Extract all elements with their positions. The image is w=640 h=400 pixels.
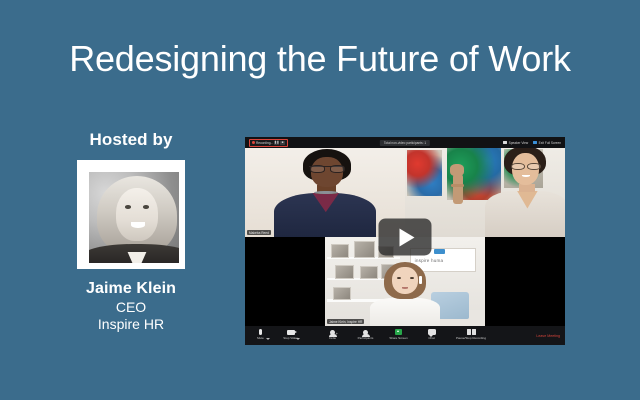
- tile1-name-label: Makeba Reed: [247, 230, 271, 235]
- tile3-picture-frame: [360, 266, 378, 279]
- inspire-hr-logo-icon: [434, 249, 445, 254]
- mute-label: Mute: [257, 337, 264, 340]
- toolbar-left-group: Mute Stop Video: [249, 326, 300, 345]
- empty-grid-cell-right: [485, 237, 565, 326]
- zoom-topbar: Recording... ❚❚ ■ Total non-video partic…: [245, 137, 565, 148]
- play-icon: [399, 228, 414, 246]
- tile2-bracelet: [451, 184, 464, 188]
- tile3-picture-frame: [335, 265, 355, 279]
- tile3-face: [392, 267, 418, 294]
- tile1-glasses-right: [330, 165, 345, 173]
- chat-label: Chat: [428, 337, 434, 340]
- topbar-right-controls: Speaker View Exit Full Screen: [503, 141, 561, 145]
- tile2-glasses-right: [527, 163, 540, 170]
- pause-stop-recording-button[interactable]: Pause/Stop Recording: [453, 326, 489, 340]
- exit-full-screen-label: Exit Full Screen: [539, 141, 561, 145]
- photo-eye-left: [125, 205, 132, 209]
- zoom-toolbar: Mute Stop Video + Invite: [245, 326, 565, 345]
- speaker-view-label: Speaker View: [509, 141, 529, 145]
- exit-full-screen-icon: [533, 141, 537, 145]
- share-screen-label: Share Screen: [389, 337, 407, 340]
- participants-icon: [363, 329, 368, 336]
- stop-icon[interactable]: ■: [280, 141, 285, 145]
- hosted-by-label: Hosted by: [48, 130, 214, 150]
- host-panel: Hosted by Jaime Klein CEO Inspire HR: [48, 130, 214, 332]
- tile3-torso: [370, 298, 440, 326]
- host-role: CEO: [48, 299, 214, 316]
- presentation-slide: Redesigning the Future of Work Hosted by…: [0, 0, 640, 400]
- empty-grid-cell-left: [245, 237, 325, 326]
- photo-face: [116, 188, 158, 240]
- host-name: Jaime Klein: [48, 280, 214, 298]
- video-options-chevron-down-icon[interactable]: [296, 338, 300, 340]
- tile2-arm: [453, 174, 463, 204]
- page-title: Redesigning the Future of Work: [0, 38, 640, 80]
- recording-label: Recording...: [256, 141, 273, 145]
- chat-icon: [428, 329, 436, 336]
- host-organization: Inspire HR: [48, 316, 214, 333]
- tile3-picture-frame: [354, 241, 375, 257]
- speaker-view-button[interactable]: Speaker View: [503, 141, 528, 145]
- tile3-name-label: Jaime Klein, Inspire HR: [327, 319, 364, 324]
- exit-full-screen-button[interactable]: Exit Full Screen: [533, 141, 561, 145]
- chat-button[interactable]: Chat: [420, 326, 443, 340]
- pause-icon[interactable]: ❚❚: [274, 141, 279, 145]
- tile2-raised-fist: [450, 164, 464, 176]
- leave-meeting-button[interactable]: Leave Meeting: [536, 334, 560, 338]
- play-button[interactable]: [379, 219, 432, 256]
- audio-options-chevron-down-icon[interactable]: [266, 338, 270, 340]
- speaker-view-icon: [503, 141, 507, 145]
- invite-button[interactable]: + Invite: [321, 326, 344, 340]
- tile3-picture-frame: [331, 244, 349, 258]
- tile3-mouth: [402, 287, 408, 289]
- share-screen-button[interactable]: Share Screen: [387, 326, 410, 340]
- tile3-picture-frame: [333, 287, 351, 301]
- tile2-artwork-left: [407, 150, 442, 196]
- recording-label: Pause/Stop Recording: [456, 337, 486, 340]
- tile2-glasses-left: [511, 163, 524, 170]
- non-video-participants-chip: Total non-video participants: 1: [380, 140, 430, 146]
- participants-button[interactable]: Participants: [354, 326, 377, 340]
- avatar: [89, 172, 185, 269]
- toolbar-right-group: Leave Meeting: [536, 326, 560, 345]
- microphone-icon: [259, 329, 262, 336]
- camera-icon: [287, 329, 295, 336]
- tile3-earbud: [419, 276, 422, 284]
- recording-indicator[interactable]: Recording... ❚❚ ■: [249, 139, 288, 147]
- record-dot-icon: [252, 141, 255, 144]
- photo-eye-right: [143, 205, 150, 209]
- recording-icon: [467, 329, 476, 336]
- video-player[interactable]: Recording... ❚❚ ■ Total non-video partic…: [245, 137, 565, 345]
- toolbar-center-group: + Invite Participants Share Screen Chat: [321, 326, 489, 345]
- tile3-sign-text: inspire huma: [415, 258, 473, 263]
- tile1-glasses-left: [310, 165, 325, 173]
- host-photo-frame: [77, 160, 185, 269]
- invite-icon: +: [330, 329, 335, 336]
- share-screen-icon: [395, 329, 402, 336]
